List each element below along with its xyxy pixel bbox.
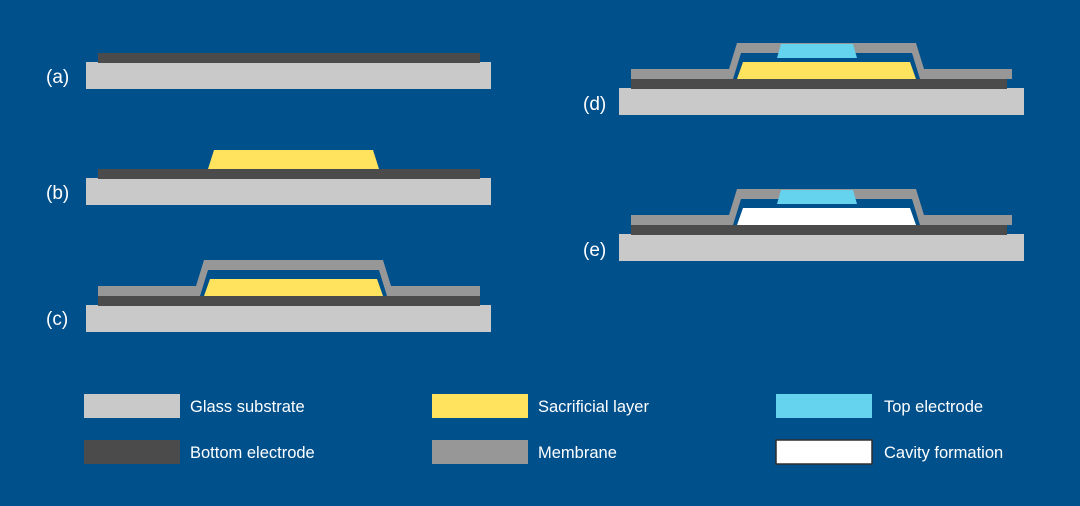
panel-c-bottom-electrode <box>98 296 480 306</box>
panel-b-bottom-electrode <box>98 169 480 179</box>
legend-label-cavity-formation: Cavity formation <box>884 444 1003 462</box>
panel-a-label: (a) <box>46 67 69 88</box>
panel-b-sacrificial-layer <box>208 150 379 169</box>
panel-c-glass-substrate <box>86 305 491 332</box>
legend-label-glass-substrate: Glass substrate <box>190 398 305 416</box>
panel-e-glass-substrate <box>619 234 1024 261</box>
panel-d-bottom-electrode <box>631 79 1007 89</box>
panel-d-sacrificial-layer <box>737 62 916 79</box>
panel-b-label: (b) <box>46 183 69 204</box>
panel-e-bottom-electrode <box>631 225 1007 235</box>
panel-a: (a) <box>46 53 491 89</box>
legend-label-bottom-electrode: Bottom electrode <box>190 444 315 462</box>
panel-d-label: (d) <box>583 94 606 115</box>
legend-swatch-top-electrode <box>776 394 872 418</box>
figure-root: (a) (b) (c) (d) <box>0 0 1080 506</box>
legend-swatch-cavity-formation <box>776 440 872 464</box>
legend-swatch-glass-substrate <box>84 394 180 418</box>
panel-d-top-electrode <box>777 44 857 58</box>
panel-d-glass-substrate <box>619 88 1024 115</box>
legend-swatch-sacrificial-layer <box>432 394 528 418</box>
panel-c-sacrificial-layer <box>204 279 383 296</box>
legend-label-sacrificial-layer: Sacrificial layer <box>538 398 649 416</box>
panel-a-bottom-electrode <box>98 53 480 63</box>
panel-e-label: (e) <box>583 240 606 261</box>
panel-e-cavity <box>737 208 916 225</box>
legend-swatch-bottom-electrode <box>84 440 180 464</box>
process-flow-diagram: (a) (b) (c) (d) <box>0 0 1080 506</box>
panel-a-glass-substrate <box>86 62 491 89</box>
panel-c-label: (c) <box>46 309 68 330</box>
legend-label-membrane: Membrane <box>538 444 617 462</box>
legend-label-top-electrode: Top electrode <box>884 398 983 416</box>
panel-b-glass-substrate <box>86 178 491 205</box>
panel-e-top-electrode <box>777 190 857 204</box>
legend-swatch-membrane <box>432 440 528 464</box>
